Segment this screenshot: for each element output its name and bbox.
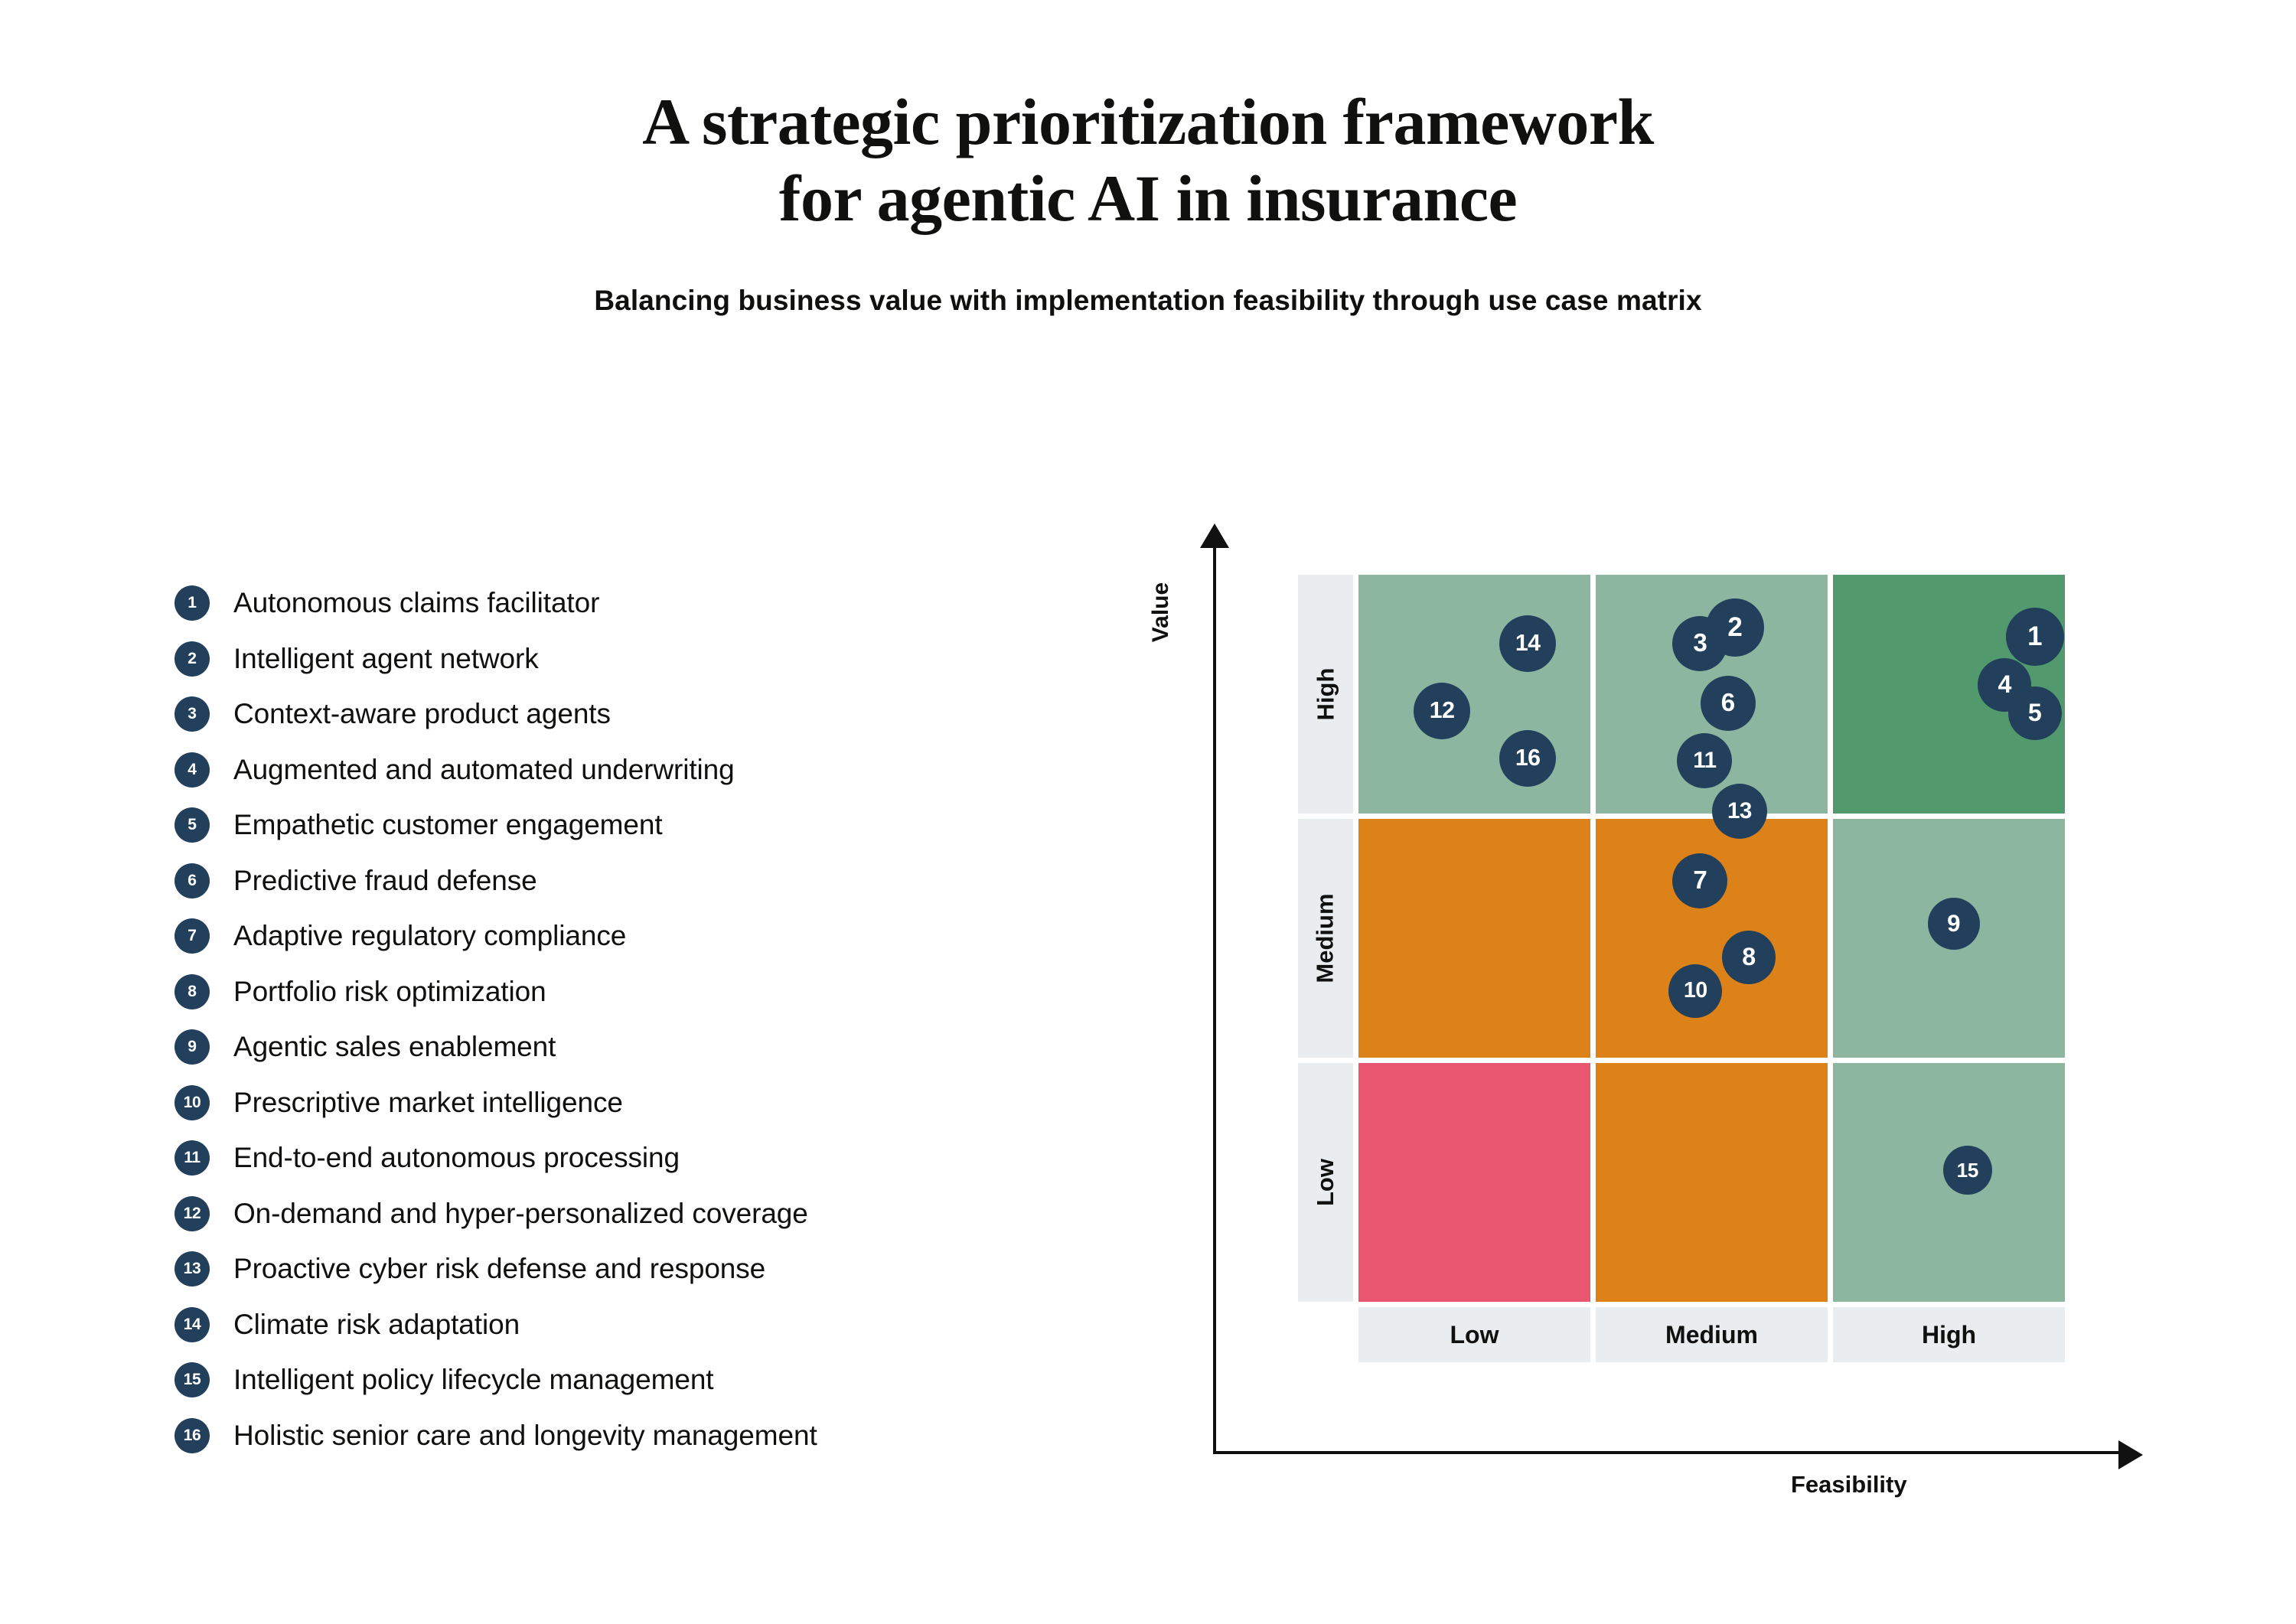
use-case-legend-list: 1Autonomous claims facilitator2Intellige… [174,576,1078,1463]
matrix-bubble[interactable]: 1 [2006,608,2064,666]
x-axis-tick-medium: Medium [1596,1307,1828,1362]
matrix-cell-medium-low[interactable] [1596,1063,1828,1302]
legend-item-label: Augmented and automated underwriting [233,754,735,786]
legend-item[interactable]: 3Context-aware product agents [174,686,1078,742]
y-axis-line [1213,545,1216,1454]
legend-number-badge: 15 [174,1362,210,1397]
y-axis-tick-label: Low [1312,1159,1339,1206]
matrix-cell-medium-medium[interactable] [1596,819,1828,1058]
matrix-bubble[interactable]: 13 [1712,784,1767,839]
legend-number-badge: 8 [174,974,210,1009]
legend-number-badge: 4 [174,752,210,788]
legend-item[interactable]: 16Holistic senior care and longevity man… [174,1408,1078,1464]
legend-number-badge: 12 [174,1196,210,1231]
legend-number-badge: 1 [174,585,210,621]
page-title-line-1: A strategic prioritization framework [0,84,2296,161]
legend-item[interactable]: 5Empathetic customer engagement [174,797,1078,853]
legend-item-label: Portfolio risk optimization [233,976,546,1008]
legend-number-badge: 6 [174,863,210,898]
legend-number-badge: 11 [174,1140,210,1176]
legend-item-label: Context-aware product agents [233,698,611,730]
matrix-cell-low-medium[interactable] [1358,819,1590,1058]
legend-number-badge: 2 [174,641,210,677]
y-axis-title: Value [1148,536,1174,689]
legend-item-label: Prescriptive market intelligence [233,1087,623,1119]
matrix-bubble[interactable]: 12 [1414,683,1470,739]
legend-number-badge: 10 [174,1085,210,1120]
y-axis-arrow-icon [1200,523,1229,548]
x-axis-tick-low: Low [1358,1307,1590,1362]
legend-item[interactable]: 13Proactive cyber risk defense and respo… [174,1241,1078,1297]
legend-number-badge: 3 [174,696,210,732]
y-axis-tick-label: Medium [1312,893,1339,983]
legend-item[interactable]: 14Climate risk adaptation [174,1297,1078,1353]
legend-item-label: On-demand and hyper-personalized coverag… [233,1198,808,1230]
page-title-line-2: for agentic AI in insurance [0,161,2296,237]
legend-item[interactable]: 2Intelligent agent network [174,631,1078,687]
legend-item[interactable]: 8Portfolio risk optimization [174,964,1078,1020]
value-feasibility-matrix: Value Feasibility HighMediumLowLowMedium… [1194,536,2158,1531]
matrix-bubble[interactable]: 9 [1928,898,1980,950]
legend-item[interactable]: 11End-to-end autonomous processing [174,1130,1078,1186]
legend-item-label: Agentic sales enablement [233,1031,556,1063]
legend-item[interactable]: 1Autonomous claims facilitator [174,576,1078,631]
x-axis-tick-high: High [1833,1307,2065,1362]
legend-item[interactable]: 4Augmented and automated underwriting [174,742,1078,798]
matrix-cell-low-low[interactable] [1358,1063,1590,1302]
legend-item[interactable]: 6Predictive fraud defense [174,853,1078,909]
legend-number-badge: 7 [174,918,210,954]
page-title: A strategic prioritization framework for… [0,0,2296,237]
legend-item[interactable]: 15Intelligent policy lifecycle managemen… [174,1352,1078,1408]
legend-number-badge: 14 [174,1307,210,1342]
legend-number-badge: 13 [174,1251,210,1286]
legend-item[interactable]: 9Agentic sales enablement [174,1019,1078,1075]
matrix-bubble[interactable]: 15 [1943,1146,1992,1195]
legend-item[interactable]: 10Prescriptive market intelligence [174,1075,1078,1131]
legend-item-label: Intelligent agent network [233,643,539,675]
matrix-bubble[interactable]: 10 [1668,964,1722,1018]
legend-item-label: End-to-end autonomous processing [233,1142,680,1174]
legend-item-label: Climate risk adaptation [233,1309,520,1341]
matrix-bubble[interactable]: 8 [1722,931,1776,984]
legend-number-badge: 9 [174,1029,210,1065]
legend-item-label: Proactive cyber risk defense and respons… [233,1253,765,1285]
legend-item-label: Adaptive regulatory compliance [233,920,626,952]
x-axis-line [1213,1451,2123,1454]
legend-item-label: Holistic senior care and longevity manag… [233,1420,817,1452]
y-axis-tick-medium: Medium [1298,819,1353,1058]
legend-number-badge: 5 [174,807,210,843]
legend-item-label: Predictive fraud defense [233,865,537,897]
matrix-bubble[interactable]: 16 [1499,730,1556,787]
page-subtitle: Balancing business value with implementa… [0,237,2296,317]
y-axis-tick-high: High [1298,575,1353,814]
y-axis-tick-low: Low [1298,1063,1353,1302]
x-axis-arrow-icon [2118,1440,2143,1469]
legend-item-label: Autonomous claims facilitator [233,587,599,619]
legend-item-label: Empathetic customer engagement [233,809,663,841]
legend-number-badge: 16 [174,1418,210,1453]
y-axis-tick-label: High [1312,668,1339,721]
matrix-bubble[interactable]: 7 [1672,853,1727,908]
legend-item[interactable]: 12On-demand and hyper-personalized cover… [174,1186,1078,1242]
x-axis-title: Feasibility [1791,1471,1907,1498]
matrix-cell-low-high[interactable] [1358,575,1590,814]
legend-item[interactable]: 7Adaptive regulatory compliance [174,908,1078,964]
matrix-bubble[interactable]: 5 [2008,686,2062,740]
legend-item-label: Intelligent policy lifecycle management [233,1364,714,1396]
matrix-bubble[interactable]: 6 [1701,676,1756,731]
page-header: A strategic prioritization framework for… [0,0,2296,317]
